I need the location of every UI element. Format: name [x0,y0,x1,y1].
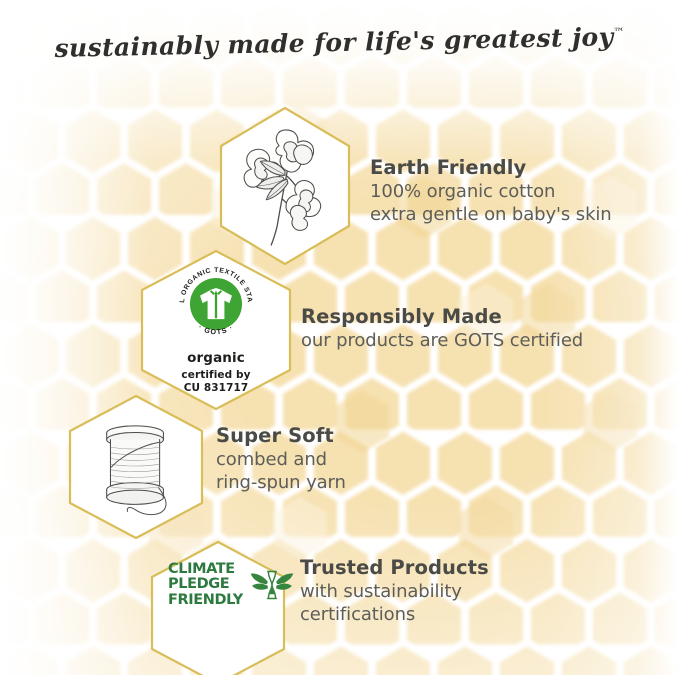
infographic-canvas: sustainably made for life's greatest joy… [0,0,679,675]
climate-pledge-wordmark: CLIMATE PLEDGE FRIENDLY [168,562,243,608]
hexagon-tile-super-soft [62,392,210,542]
feature-line: extra gentle on baby's skin [370,203,612,226]
gots-organic-label: organic [151,350,281,366]
thread-spool-sketch-icon [62,392,210,542]
cotton-branch-sketch-icon [214,104,356,268]
gots-license-code: CU 831717 [151,382,281,395]
feature-line: 100% organic cotton [370,180,612,203]
cpf-line-1: CLIMATE [168,562,243,577]
winged-hourglass-icon [250,567,294,603]
cpf-line-2: PLEDGE [168,577,243,592]
feature-title: Trusted Products [300,556,489,580]
headline-text: sustainably made for life's greatest joy [54,22,614,63]
feature-text-responsibly-made: Responsibly Made our products are GOTS c… [301,305,583,352]
feature-title: Super Soft [216,424,346,448]
feature-line: with sustainability [300,580,489,603]
gots-seal-icon: GLOBAL ORGANIC TEXTILE STANDARD · GOTS · [174,262,258,346]
feature-title: Responsibly Made [301,305,583,329]
gots-certified-by-label: certified by [151,369,281,382]
climate-pledge-friendly-icon: CLIMATE PLEDGE FRIENDLY [168,562,294,608]
feature-line: combed and [216,448,346,471]
trademark-symbol: ™ [613,26,624,39]
feature-line: certifications [300,603,489,626]
feature-line: our products are GOTS certified [301,329,583,352]
feature-line: ring-spun yarn [216,471,346,494]
feature-text-super-soft: Super Soft combed and ring-spun yarn [216,424,346,495]
feature-title: Earth Friendly [370,156,612,180]
hexagon-tile-earth-friendly [214,104,356,268]
gots-organic-certification-icon: GLOBAL ORGANIC TEXTILE STANDARD · GOTS ·… [151,262,281,395]
feature-text-trusted-products: Trusted Products with sustainability cer… [300,556,489,627]
page-headline: sustainably made for life's greatest joy… [0,21,679,64]
feature-text-earth-friendly: Earth Friendly 100% organic cotton extra… [370,156,612,227]
cpf-line-3: FRIENDLY [168,593,243,608]
